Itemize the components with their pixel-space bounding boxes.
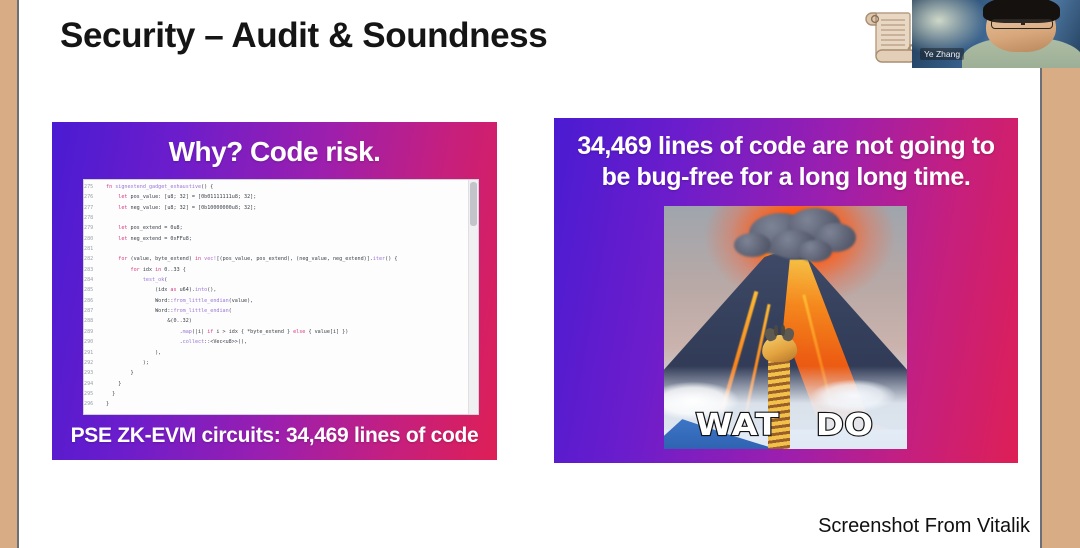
page-title: Security – Audit & Soundness	[60, 16, 547, 56]
code-line: 279 let pos_extend = 0u8;	[84, 223, 397, 233]
code-line: 290 .collect::<Vec<u8>>(),	[84, 337, 397, 347]
volcano-giraffe-meme-image: WAT DO	[664, 206, 907, 449]
code-line: 275fn signextend_gadget_exhaustive() {	[84, 182, 397, 192]
code-line-number: 280	[84, 234, 106, 244]
slide-credit: Screenshot From Vitalik	[818, 515, 1030, 538]
presenter-glasses	[991, 19, 1053, 29]
code-line-number: 286	[84, 296, 106, 306]
code-scrollbar-thumb[interactable]	[470, 182, 477, 226]
code-line-number: 279	[84, 223, 106, 233]
code-line-number: 296	[84, 399, 106, 409]
code-line-text: let neg_extend = 0xFFu8;	[106, 234, 397, 244]
code-line-text	[106, 213, 397, 223]
code-line-text	[106, 244, 397, 254]
giraffe-horn	[781, 325, 785, 336]
code-line: 286 Word::from_little_endian(value),	[84, 296, 397, 306]
left-image-panel: Why? Code risk. 275fn signextend_gadget_…	[52, 122, 497, 460]
code-line: 291 ),	[84, 348, 397, 358]
left-panel-heading: Why? Code risk.	[52, 136, 497, 168]
code-line: 294 }	[84, 379, 397, 389]
code-line-text: }	[106, 368, 397, 378]
code-line-number: 275	[84, 182, 106, 192]
presentation-slide: Security – Audit & Soundness Why? Code r…	[19, 0, 1040, 548]
code-line: 285 (idx as u64).into(),	[84, 285, 397, 295]
window-left-border	[0, 0, 17, 548]
code-line-number: 278	[84, 213, 106, 223]
code-line-text: .map(|i| if i > idx { *byte_extend } els…	[106, 327, 397, 337]
code-line: 296}	[84, 399, 397, 409]
code-line-number: 282	[84, 254, 106, 264]
code-line-text: &(0..32)	[106, 316, 397, 326]
window-right-rule	[1040, 0, 1042, 548]
code-screenshot: 275fn signextend_gadget_exhaustive() {27…	[83, 179, 479, 415]
left-panel-caption: PSE ZK-EVM circuits: 34,469 lines of cod…	[52, 424, 497, 448]
code-line-text: (idx as u64).into(),	[106, 285, 397, 295]
meme-smoke-puff	[734, 233, 770, 257]
code-line: 289 .map(|i| if i > idx { *byte_extend }…	[84, 327, 397, 337]
code-line-number: 293	[84, 368, 106, 378]
code-line: 280 let neg_extend = 0xFFu8;	[84, 234, 397, 244]
right-heading-line-2: be bug-free for a long long time.	[564, 162, 1008, 193]
code-line: 281	[84, 244, 397, 254]
window-right-border	[1042, 0, 1080, 548]
code-line-number: 294	[84, 379, 106, 389]
code-line-number: 288	[84, 316, 106, 326]
code-line-text: }	[106, 399, 397, 409]
code-line-text: );	[106, 358, 397, 368]
code-line-text: let neg_value: [u8; 32] = [0b10000000u8;…	[106, 203, 397, 213]
code-line-text: }	[106, 389, 397, 399]
code-line: 278	[84, 213, 397, 223]
code-line-number: 281	[84, 244, 106, 254]
code-line: 277 let neg_value: [u8; 32] = [0b1000000…	[84, 203, 397, 213]
code-line-text: for (value, byte_extend) in vec![(pos_va…	[106, 254, 397, 264]
code-line: 276 let pos_value: [u8; 32] = [0b0111111…	[84, 192, 397, 202]
meme-caption-right: DO	[816, 408, 874, 443]
code-line-number: 290	[84, 337, 106, 347]
code-line-text: let pos_extend = 0u8;	[106, 223, 397, 233]
presenter-video-tile[interactable]: Ye Zhang	[912, 0, 1080, 68]
code-listing: 275fn signextend_gadget_exhaustive() {27…	[84, 182, 397, 410]
code-line-number: 285	[84, 285, 106, 295]
application-window: Security – Audit & Soundness Why? Code r…	[0, 0, 1080, 548]
code-line-number: 287	[84, 306, 106, 316]
code-line: 293 }	[84, 368, 397, 378]
right-panel-heading: 34,469 lines of code are not going to be…	[564, 131, 1008, 193]
code-line: 287 Word::from_little_endian(	[84, 306, 397, 316]
code-line: 284 test_ok(	[84, 275, 397, 285]
code-scrollbar-track[interactable]	[468, 180, 478, 414]
code-line-number: 277	[84, 203, 106, 213]
code-line-text: ),	[106, 348, 397, 358]
code-line: 282 for (value, byte_extend) in vec![(po…	[84, 254, 397, 264]
code-line-text: let pos_value: [u8; 32] = [0b01111111u8;…	[106, 192, 397, 202]
code-line: 292 );	[84, 358, 397, 368]
code-line-number: 284	[84, 275, 106, 285]
code-line-number: 291	[84, 348, 106, 358]
right-image-panel: 34,469 lines of code are not going to be…	[554, 118, 1018, 463]
code-line-text: Word::from_little_endian(value),	[106, 296, 397, 306]
code-line-text: Word::from_little_endian(	[106, 306, 397, 316]
meme-caption: WAT DO	[664, 408, 907, 443]
code-line: 295 }	[84, 389, 397, 399]
code-line-number: 276	[84, 192, 106, 202]
code-line: 283 for idx in 0..33 {	[84, 265, 397, 275]
meme-caption-left: WAT	[696, 408, 780, 443]
code-line-text: test_ok(	[106, 275, 397, 285]
presenter-name-label: Ye Zhang	[920, 48, 964, 60]
code-line-number: 289	[84, 327, 106, 337]
code-line: 288 &(0..32)	[84, 316, 397, 326]
meme-smoke-puff	[798, 240, 832, 262]
code-line-text: }	[106, 379, 397, 389]
code-line-text: .collect::<Vec<u8>>(),	[106, 337, 397, 347]
code-line-number: 292	[84, 358, 106, 368]
code-line-number: 295	[84, 389, 106, 399]
code-line-text: fn signextend_gadget_exhaustive() {	[106, 182, 397, 192]
right-heading-line-1: 34,469 lines of code are not going to	[564, 131, 1008, 162]
code-line-text: for idx in 0..33 {	[106, 265, 397, 275]
giraffe-horn	[774, 325, 778, 336]
code-line-number: 283	[84, 265, 106, 275]
